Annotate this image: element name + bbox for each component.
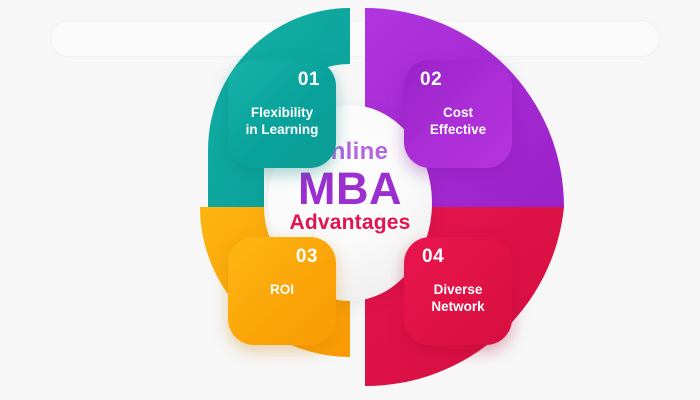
segment-card-01[interactable]: 01 Flexibilityin Learning (228, 60, 336, 168)
segment-label-03: ROI (240, 282, 324, 299)
infographic-canvas: Online MBA Advantages 01 Flexibilityin L… (0, 0, 700, 400)
segment-number-02: 02 (416, 70, 500, 89)
segment-label-02: CostEffective (416, 105, 500, 139)
segment-card-03[interactable]: 03 ROI (228, 237, 336, 345)
segment-label-01: Flexibilityin Learning (240, 105, 324, 139)
segment-number-03: 03 (240, 247, 324, 266)
center-title-line3: Advantages (268, 212, 432, 233)
segment-card-04[interactable]: 04 DiverseNetwork (404, 237, 512, 345)
segment-label-04: DiverseNetwork (416, 282, 500, 316)
center-title-line2: MBA (268, 166, 432, 211)
segment-number-04: 04 (416, 247, 500, 266)
segment-card-02[interactable]: 02 CostEffective (404, 60, 512, 168)
segment-number-01: 01 (240, 70, 324, 89)
